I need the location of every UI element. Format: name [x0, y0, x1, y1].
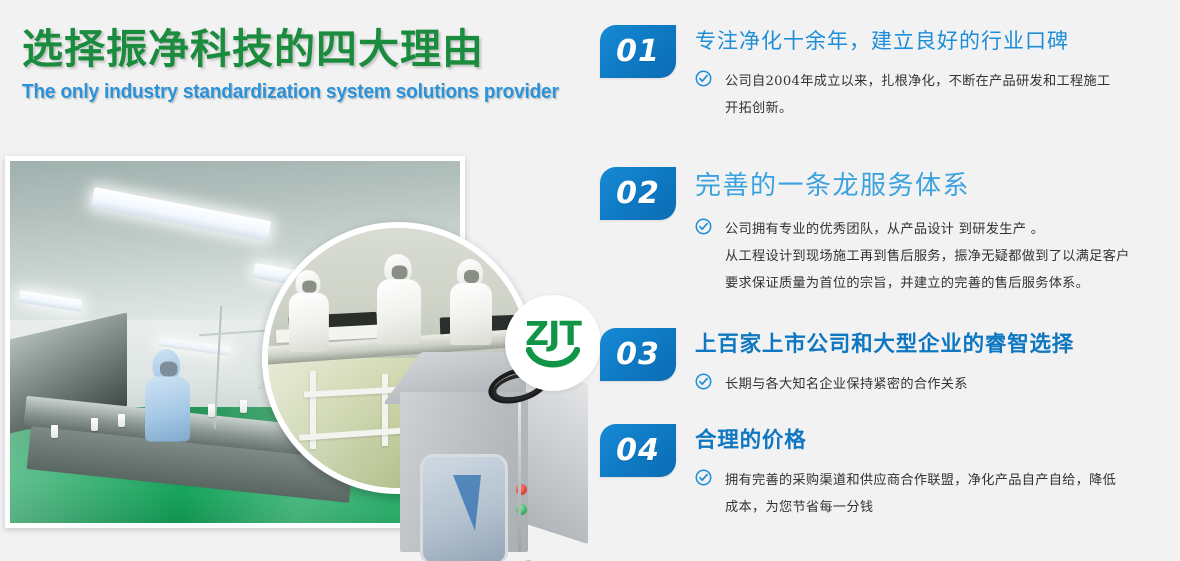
- bullet-line: 公司拥有专业的优秀团队，从产品设计 到研发生产 。: [725, 217, 1180, 244]
- feature-item-03: 03 上百家上市公司和大型企业的睿智选择 长期与各大知名企业保持紧密的合作关系: [600, 328, 1180, 399]
- bullet-text: 长期与各大知名企业保持紧密的合作关系: [725, 372, 1180, 399]
- feature-number-badge: 01: [600, 25, 676, 78]
- bullet-line: 长期与各大知名企业保持紧密的合作关系: [725, 372, 1180, 399]
- feature-item-04: 04 合理的价格 拥有完善的采购渠道和供应商合作联盟，净化产品自产自给，降低: [600, 424, 1180, 522]
- feature-body: 上百家上市公司和大型企业的睿智选择 长期与各大知名企业保持紧密的合作关系: [676, 328, 1180, 399]
- face-mask: [302, 280, 316, 292]
- check-slot: [695, 217, 725, 235]
- features-panel: 01 专注净化十余年，建立良好的行业口碑 公司自2004年成立以来，扎根净化，不…: [600, 0, 1180, 561]
- feature-bullets: 公司自2004年成立以来，扎根净化，不断在产品研发和工程施工 开拓创新。: [695, 69, 1180, 123]
- bullet-text: 公司拥有专业的优秀团队，从产品设计 到研发生产 。 从工程设计到现场施工再到售后…: [725, 217, 1180, 298]
- coverall: [145, 377, 190, 442]
- product-bottle: [240, 400, 247, 413]
- smile-arc-icon: [526, 347, 580, 371]
- coverall: [377, 279, 421, 344]
- product-bottle: [208, 404, 215, 417]
- feature-item-01: 01 专注净化十余年，建立良好的行业口碑 公司自2004年成立以来，扎根净化，不…: [600, 25, 1180, 123]
- bullet-line: 开拓创新。: [725, 96, 1180, 123]
- feature-bullets: 公司拥有专业的优秀团队，从产品设计 到研发生产 。 从工程设计到现场施工再到售后…: [695, 217, 1180, 298]
- check-slot: [695, 69, 725, 87]
- feature-title: 上百家上市公司和大型企业的睿智选择: [695, 332, 1180, 357]
- promo-banner: 选择振净科技的四大理由 The only industry standardiz…: [0, 0, 1180, 561]
- bullet-line: 公司自2004年成立以来，扎根净化，不断在产品研发和工程施工: [725, 69, 1180, 96]
- feature-number-badge: 03: [600, 328, 676, 381]
- check-circle-icon: [695, 373, 712, 390]
- page-title: 选择振净科技的四大理由: [22, 26, 582, 73]
- zjt-logo: ZJT: [505, 295, 601, 391]
- feature-number-badge: 02: [600, 167, 676, 220]
- feature-item-02: 02 完善的一条龙服务体系 公司拥有专业的优秀团队，从产品设计 到研发生产 。: [600, 167, 1180, 297]
- product-bottle: [51, 425, 58, 438]
- page-subtitle: The only industry standardization system…: [22, 80, 543, 104]
- feature-body: 专注净化十余年，建立良好的行业口碑 公司自2004年成立以来，扎根净化，不断在产…: [676, 25, 1180, 123]
- bullet-row: 公司自2004年成立以来，扎根净化，不断在产品研发和工程施工 开拓创新。: [695, 69, 1180, 123]
- check-slot: [695, 372, 725, 390]
- bullet-line: 成本，为您节省每一分钱: [725, 495, 1180, 522]
- left-panel: 选择振净科技的四大理由 The only industry standardiz…: [0, 0, 600, 561]
- bullet-row: 长期与各大知名企业保持紧密的合作关系: [695, 372, 1180, 399]
- check-circle-icon: [695, 218, 712, 235]
- feature-title: 合理的价格: [695, 428, 1180, 453]
- logo-text: ZJT: [525, 317, 581, 350]
- cabinet-seam: [518, 396, 521, 552]
- bullet-line: 拥有完善的采购渠道和供应商合作联盟，净化产品自产自给，降低: [725, 468, 1180, 495]
- feature-title: 专注净化十余年，建立良好的行业口碑: [695, 29, 1180, 54]
- bullet-text: 公司自2004年成立以来，扎根净化，不断在产品研发和工程施工 开拓创新。: [725, 69, 1180, 123]
- feature-body: 合理的价格 拥有完善的采购渠道和供应商合作联盟，净化产品自产自给，降低 成本，为…: [676, 424, 1180, 522]
- bullet-line: 要求保证质量为首位的宗旨，并建立的完善的售后服务体系。: [725, 271, 1180, 298]
- cabinet-window: [420, 454, 508, 561]
- check-slot: [695, 468, 725, 486]
- check-circle-icon: [695, 70, 712, 87]
- face-mask: [464, 270, 479, 283]
- feature-number-badge: 04: [600, 424, 676, 477]
- face-mask: [160, 362, 178, 377]
- feature-bullets: 长期与各大知名企业保持紧密的合作关系: [695, 372, 1180, 399]
- product-bottle: [91, 418, 98, 431]
- bullet-row: 公司拥有专业的优秀团队，从产品设计 到研发生产 。 从工程设计到现场施工再到售后…: [695, 217, 1180, 298]
- bullet-line: 从工程设计到现场施工再到售后服务，振净无疑都做到了以满足客户: [725, 244, 1180, 271]
- cabinet-front: [400, 392, 528, 552]
- feature-title: 完善的一条龙服务体系: [695, 171, 1180, 202]
- check-circle-icon: [695, 469, 712, 486]
- face-mask: [392, 266, 408, 280]
- feature-body: 完善的一条龙服务体系 公司拥有专业的优秀团队，从产品设计 到研发生产 。 从工程…: [676, 167, 1180, 297]
- headline-block: 选择振净科技的四大理由 The only industry standardiz…: [22, 26, 582, 104]
- coverall: [450, 283, 492, 345]
- product-bottle: [118, 414, 125, 427]
- arrow-graphic-icon: [453, 475, 481, 531]
- table-leg: [382, 374, 388, 447]
- coverall: [289, 292, 329, 351]
- bullet-row: 拥有完善的采购渠道和供应商合作联盟，净化产品自产自给，降低 成本，为您节省每一分…: [695, 468, 1180, 522]
- bullet-text: 拥有完善的采购渠道和供应商合作联盟，净化产品自产自给，降低 成本，为您节省每一分…: [725, 468, 1180, 522]
- photo-collage: ZJT: [0, 140, 600, 561]
- feature-bullets: 拥有完善的采购渠道和供应商合作联盟，净化产品自产自给，降低 成本，为您节省每一分…: [695, 468, 1180, 522]
